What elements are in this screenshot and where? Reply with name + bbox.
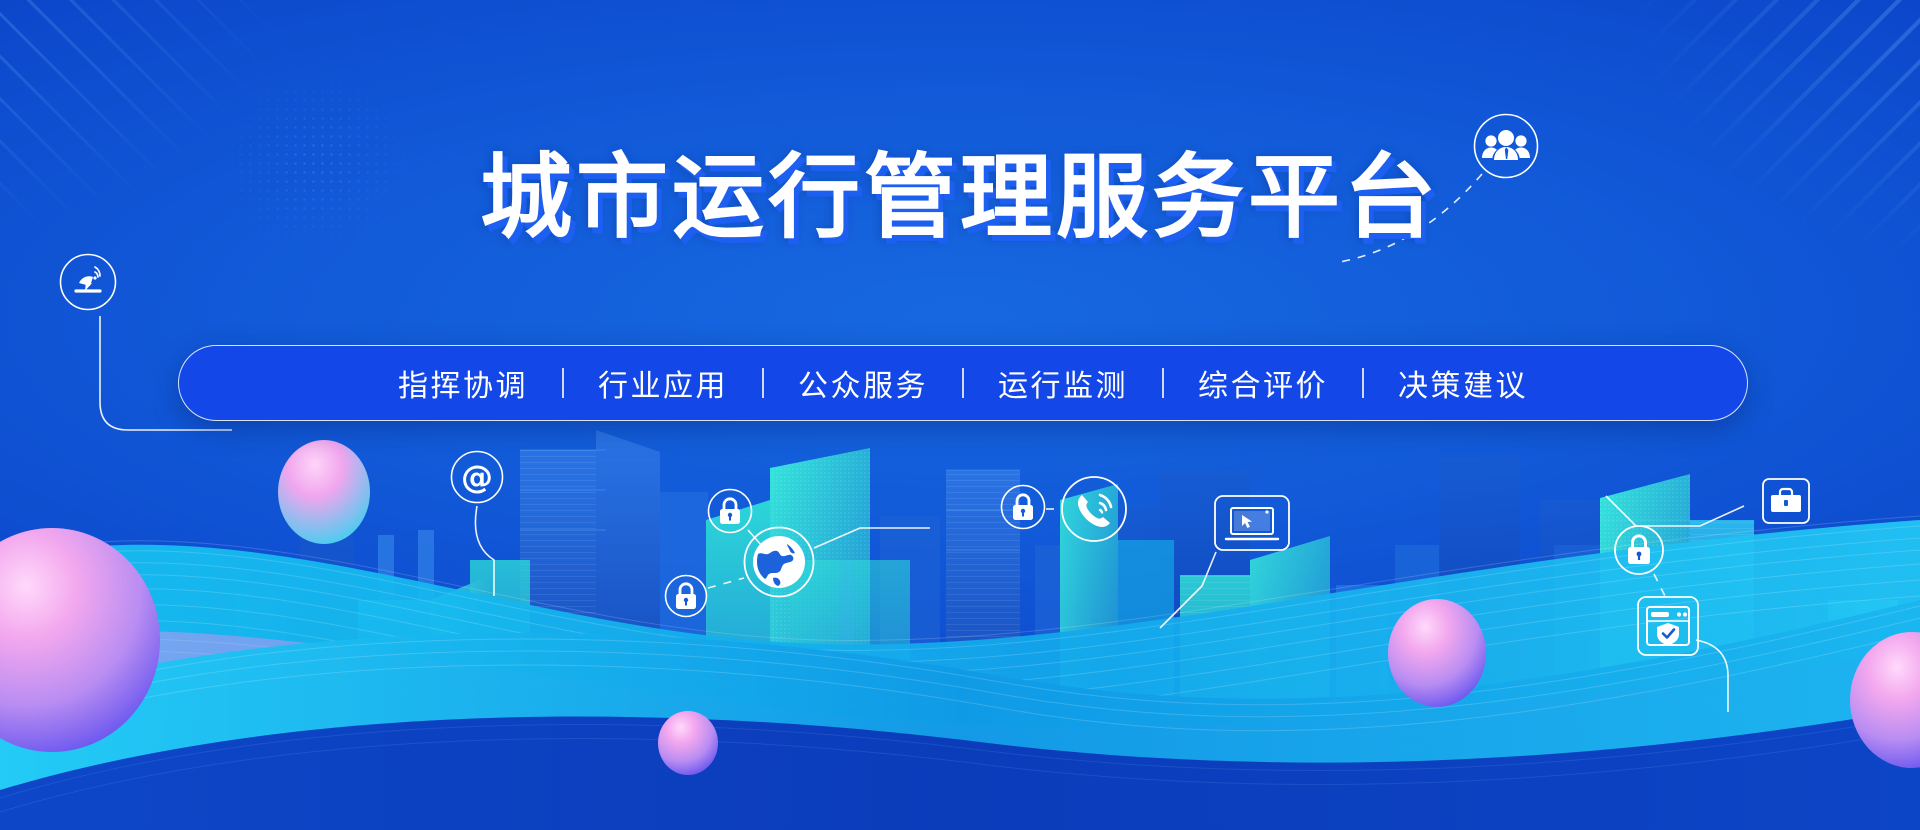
briefcase-icon[interactable] xyxy=(1762,478,1810,524)
laptop-icon[interactable] xyxy=(1214,495,1290,551)
nav-item-2[interactable]: 行业应用 xyxy=(564,361,762,405)
browser-shield-icon[interactable] xyxy=(1637,596,1699,656)
hero-banner: @ xyxy=(0,0,1920,830)
satellite-dish-icon[interactable] xyxy=(59,253,117,311)
page-title: 城市运行管理服务平台 xyxy=(480,150,1440,248)
page-title-wrap: 城市运行管理服务平台 xyxy=(0,150,1920,248)
sphere-skyline xyxy=(278,440,370,544)
svg-text:@: @ xyxy=(461,458,493,496)
lock-icon-2[interactable] xyxy=(664,574,708,618)
nav-item-4[interactable]: 运行监测 xyxy=(964,361,1162,405)
nav-item-5[interactable]: 综合评价 xyxy=(1164,361,1362,405)
nav-item-3[interactable]: 公众服务 xyxy=(764,361,962,405)
nav-item-1[interactable]: 指挥协调 xyxy=(364,361,562,405)
lock-icon-3[interactable] xyxy=(1000,484,1046,530)
sphere-bottom-mid xyxy=(658,711,718,775)
sphere-right-mid xyxy=(1388,599,1486,707)
globe-icon[interactable] xyxy=(743,526,815,598)
nav-item-6[interactable]: 决策建议 xyxy=(1364,361,1562,405)
at-sign-icon[interactable]: @ xyxy=(450,450,504,504)
primary-nav[interactable]: 指挥协调 行业应用 公众服务 运行监测 综合评价 决策建议 xyxy=(178,345,1748,421)
lock-icon-4[interactable] xyxy=(1613,524,1665,576)
phone-call-icon[interactable] xyxy=(1060,475,1128,543)
